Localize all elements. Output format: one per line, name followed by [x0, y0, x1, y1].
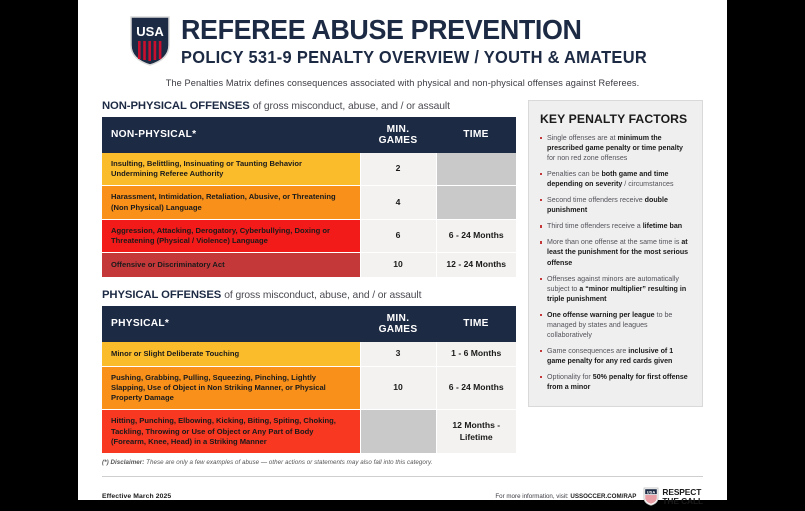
key-factor-text: Optionality for	[547, 373, 593, 381]
key-panel-title: KEY PENALTY FACTORS	[540, 112, 691, 126]
section-heading-physical: PHYSICAL OFFENSES of gross misconduct, a…	[102, 289, 516, 301]
table-row: Aggression, Attacking, Derogatory, Cyber…	[102, 219, 516, 253]
offense-description-cell: Offensive or Discriminatory Act	[102, 253, 360, 277]
key-factor-text: for non red zone offenses	[547, 154, 627, 162]
section-heading-physical-rest: of gross misconduct, abuse, and / or ass…	[224, 290, 421, 301]
key-factor-text: Single offenses are at	[547, 134, 617, 142]
poster-footer: Effective March 2025 For more informatio…	[78, 477, 727, 506]
key-penalty-factor-item: Offenses against minors are automaticall…	[540, 274, 691, 304]
more-info-url[interactable]: USSOCCER.COM/RAP	[570, 493, 636, 500]
svg-text:USA: USA	[136, 24, 164, 39]
key-penalty-factor-item: Second time offenders receive double pun…	[540, 195, 691, 215]
col-header-min-games: MIN. GAMES	[360, 306, 436, 342]
section-heading-physical-bold: PHYSICAL OFFENSES	[102, 289, 221, 301]
disclaimer: (*) Disclaimer: These are only a few exa…	[102, 459, 516, 466]
offense-description-cell: Pushing, Grabbing, Pulling, Squeezing, P…	[102, 366, 360, 410]
intro-text: The Penalties Matrix defines consequence…	[78, 78, 727, 88]
key-penalty-factors-panel: KEY PENALTY FACTORS Single offenses are …	[528, 100, 703, 407]
offense-description-cell: Insulting, Belittling, Insinuating or Ta…	[102, 153, 360, 186]
offense-description-cell: Harassment, Intimidation, Retaliation, A…	[102, 186, 360, 220]
min-games-cell: 10	[360, 366, 436, 410]
time-cell: 12 - 24 Months	[436, 253, 516, 277]
disclaimer-text: These are only a few examples of abuse —…	[146, 459, 432, 466]
table-header-row: PHYSICAL* MIN. GAMES TIME	[102, 306, 516, 342]
col-header-description: PHYSICAL*	[102, 306, 360, 342]
key-penalty-factor-item: One offense warning per league to be man…	[540, 310, 691, 340]
usa-soccer-crest-icon: USA	[643, 487, 659, 506]
physical-table-head: PHYSICAL* MIN. GAMES TIME	[102, 306, 516, 342]
min-games-cell: 2	[360, 153, 436, 186]
col-header-time: TIME	[436, 117, 516, 153]
col-header-min-games: MIN. GAMES	[360, 117, 436, 153]
more-info-text: For more information, visit: USSOCCER.CO…	[495, 493, 636, 500]
table-row: Offensive or Discriminatory Act1012 - 24…	[102, 253, 516, 277]
key-factor-text: More than one offense at the same time i…	[547, 238, 681, 246]
table-row: Insulting, Belittling, Insinuating or Ta…	[102, 153, 516, 186]
time-cell: 6 - 24 Months	[436, 366, 516, 410]
respect-the-call-lockup: USA RESPECT THE CALL	[643, 487, 703, 506]
physical-offenses-table: PHYSICAL* MIN. GAMES TIME Minor or Sligh…	[102, 306, 516, 453]
physical-table-body: Minor or Slight Deliberate Touching31 - …	[102, 342, 516, 453]
time-cell: 1 - 6 Months	[436, 342, 516, 366]
page-title: REFEREE ABUSE PREVENTION	[181, 16, 657, 44]
table-header-row: NON-PHYSICAL* MIN. GAMES TIME	[102, 117, 516, 153]
min-games-cell: 6	[360, 219, 436, 253]
key-factor-text: / circumstances	[622, 180, 673, 188]
time-cell	[436, 153, 516, 186]
key-factor-text: Third time offenders receive a	[547, 222, 643, 230]
table-row: Pushing, Grabbing, Pulling, Squeezing, P…	[102, 366, 516, 410]
nonphysical-table-head: NON-PHYSICAL* MIN. GAMES TIME	[102, 117, 516, 153]
more-info-prefix: For more information, visit:	[495, 493, 570, 500]
disclaimer-label: (*) Disclaimer:	[102, 459, 144, 466]
header-titles: REFEREE ABUSE PREVENTION POLICY 531-9 PE…	[181, 14, 677, 69]
col-header-time: TIME	[436, 306, 516, 342]
key-factor-emphasis: lifetime ban	[643, 222, 682, 230]
respect-the-call-text: RESPECT THE CALL	[662, 488, 703, 505]
key-penalty-factors-column: KEY PENALTY FACTORS Single offenses are …	[528, 100, 703, 466]
min-games-cell	[360, 410, 436, 453]
table-row: Hitting, Punching, Elbowing, Kicking, Bi…	[102, 410, 516, 453]
nonphysical-offenses-table: NON-PHYSICAL* MIN. GAMES TIME Insulting,…	[102, 117, 516, 277]
key-factor-text: Penalties can be	[547, 170, 601, 178]
key-factor-emphasis: One offense warning per league	[547, 311, 655, 319]
tables-column: NON-PHYSICAL OFFENSES of gross misconduc…	[102, 100, 516, 466]
key-penalty-factor-item: Optionality for 50% penalty for first of…	[540, 372, 691, 392]
poster-header: USA REFEREE ABUSE PREVENTION POLICY 531-…	[78, 0, 727, 69]
page-subtitle-policy: POLICY 531-9 PENALTY OVERVIEW / YOUTH & …	[181, 47, 647, 69]
section-heading-nonphysical-bold: NON-PHYSICAL OFFENSES	[102, 100, 250, 112]
key-penalty-factor-item: More than one offense at the same time i…	[540, 237, 691, 267]
key-penalty-factor-item: Single offenses are at minimum the presc…	[540, 133, 691, 163]
table-row: Harassment, Intimidation, Retaliation, A…	[102, 186, 516, 220]
time-cell: 6 - 24 Months	[436, 219, 516, 253]
body-columns: NON-PHYSICAL OFFENSES of gross misconduc…	[78, 88, 727, 466]
footer-right-group: For more information, visit: USSOCCER.CO…	[495, 487, 703, 506]
poster-page: USA REFEREE ABUSE PREVENTION POLICY 531-…	[78, 0, 727, 500]
min-games-cell: 4	[360, 186, 436, 220]
table-row: Minor or Slight Deliberate Touching31 - …	[102, 342, 516, 366]
min-games-cell: 3	[360, 342, 436, 366]
key-penalty-factor-item: Penalties can be both game and time depe…	[540, 169, 691, 189]
min-games-cell: 10	[360, 253, 436, 277]
key-penalty-factors-list: Single offenses are at minimum the presc…	[540, 133, 691, 392]
offense-description-cell: Aggression, Attacking, Derogatory, Cyber…	[102, 219, 360, 253]
offense-description-cell: Hitting, Punching, Elbowing, Kicking, Bi…	[102, 410, 360, 453]
col-header-description: NON-PHYSICAL*	[102, 117, 360, 153]
key-factor-text: Second time offenders receive	[547, 196, 645, 204]
nonphysical-table-body: Insulting, Belittling, Insinuating or Ta…	[102, 153, 516, 277]
offense-description-cell: Minor or Slight Deliberate Touching	[102, 342, 360, 366]
usa-soccer-crest-icon: USA	[129, 15, 171, 67]
key-penalty-factor-item: Game consequences are inclusive of 1 gam…	[540, 346, 691, 366]
key-factor-text: Game consequences are	[547, 347, 628, 355]
key-penalty-factor-item: Third time offenders receive a lifetime …	[540, 221, 691, 231]
time-cell	[436, 186, 516, 220]
time-cell: 12 Months - Lifetime	[436, 410, 516, 453]
svg-text:USA: USA	[647, 489, 656, 494]
section-heading-nonphysical-rest: of gross misconduct, abuse, and / or ass…	[253, 101, 450, 112]
effective-date: Effective March 2025	[102, 493, 171, 500]
section-heading-nonphysical: NON-PHYSICAL OFFENSES of gross misconduc…	[102, 100, 516, 112]
rtc-line-2: THE CALL	[662, 497, 703, 506]
